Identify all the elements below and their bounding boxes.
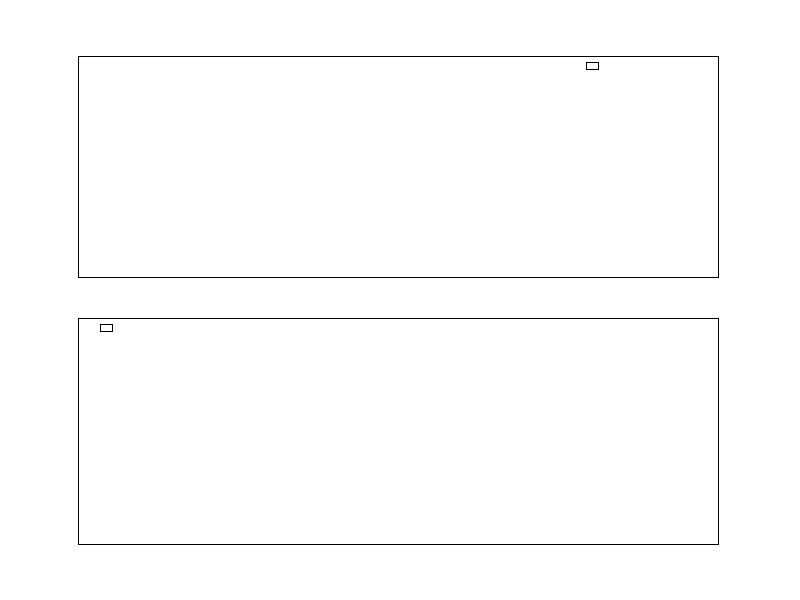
top-panel-plot-area [79, 57, 718, 277]
bottom-panel-plot-area [79, 319, 718, 544]
figure-canvas [0, 0, 800, 600]
top-panel-legend [586, 62, 599, 70]
top-panel-axes [78, 56, 719, 278]
bottom-panel-axes [78, 318, 719, 545]
bottom-panel-legend [100, 324, 113, 332]
